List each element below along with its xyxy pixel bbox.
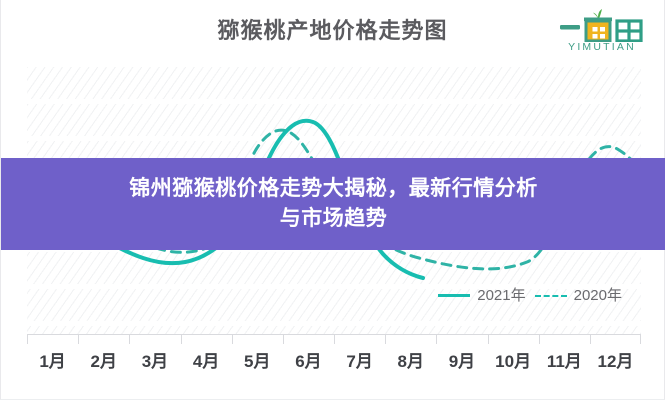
legend-label-2021: 2021年 bbox=[477, 288, 525, 303]
x-axis-label: 1月 bbox=[27, 347, 78, 372]
x-axis-label: 6月 bbox=[283, 347, 334, 372]
x-axis-tick bbox=[129, 334, 130, 344]
price-trend-chart-card: 猕猴桃产地价格走势图 YIMUTIAN bbox=[0, 0, 665, 400]
chart-legend: 2021年 2020年 bbox=[438, 288, 622, 303]
x-axis-tick bbox=[27, 334, 28, 344]
x-axis-tick bbox=[78, 334, 79, 344]
yimutian-logo: YIMUTIAN bbox=[554, 8, 650, 58]
legend-item-2021[interactable]: 2021年 bbox=[438, 288, 525, 303]
x-axis-label: 3月 bbox=[129, 347, 180, 372]
x-axis-tick bbox=[640, 334, 641, 344]
x-axis-tick bbox=[232, 334, 233, 344]
x-axis-tick bbox=[488, 334, 489, 344]
x-axis-label: 4月 bbox=[181, 347, 232, 372]
legend-swatch-dashed-icon bbox=[535, 295, 567, 297]
headline-overlay-banner: 锦州猕猴桃价格走势大揭秘，最新行情分析 与市场趋势 bbox=[1, 158, 665, 250]
headline-line-1: 锦州猕猴桃价格走势大揭秘，最新行情分析 bbox=[129, 174, 538, 204]
x-axis-label: 10月 bbox=[488, 347, 539, 372]
x-axis-tick bbox=[283, 334, 284, 344]
legend-label-2020: 2020年 bbox=[574, 288, 622, 303]
x-axis-label: 8月 bbox=[385, 347, 436, 372]
legend-item-2020[interactable]: 2020年 bbox=[535, 288, 622, 303]
legend-swatch-solid-icon bbox=[438, 294, 470, 297]
x-axis-tick bbox=[590, 334, 591, 344]
x-axis-label: 9月 bbox=[436, 347, 487, 372]
logo-mark-icon bbox=[554, 8, 650, 42]
logo-wordmark: YIMUTIAN bbox=[554, 41, 650, 53]
headline-line-2: 与市场趋势 bbox=[280, 204, 388, 234]
x-axis-tick bbox=[334, 334, 335, 344]
x-axis-labels: 1月 2月 3月 4月 5月 6月 7月 8月 9月 10月 11月 12月 bbox=[27, 347, 641, 372]
x-axis-tick bbox=[385, 334, 386, 344]
x-axis: 1月 2月 3月 4月 5月 6月 7月 8月 9月 10月 11月 12月 bbox=[27, 334, 641, 380]
screenshot-root: 猕猴桃产地价格走势图 YIMUTIAN bbox=[0, 0, 665, 400]
x-axis-tick bbox=[181, 334, 182, 344]
x-axis-tick bbox=[539, 334, 540, 344]
x-axis-tick bbox=[436, 334, 437, 344]
x-axis-label: 12月 bbox=[590, 347, 641, 372]
x-axis-label: 5月 bbox=[232, 347, 283, 372]
x-axis-label: 7月 bbox=[334, 347, 385, 372]
x-axis-label: 2月 bbox=[78, 347, 129, 372]
x-axis-label: 11月 bbox=[539, 347, 590, 372]
